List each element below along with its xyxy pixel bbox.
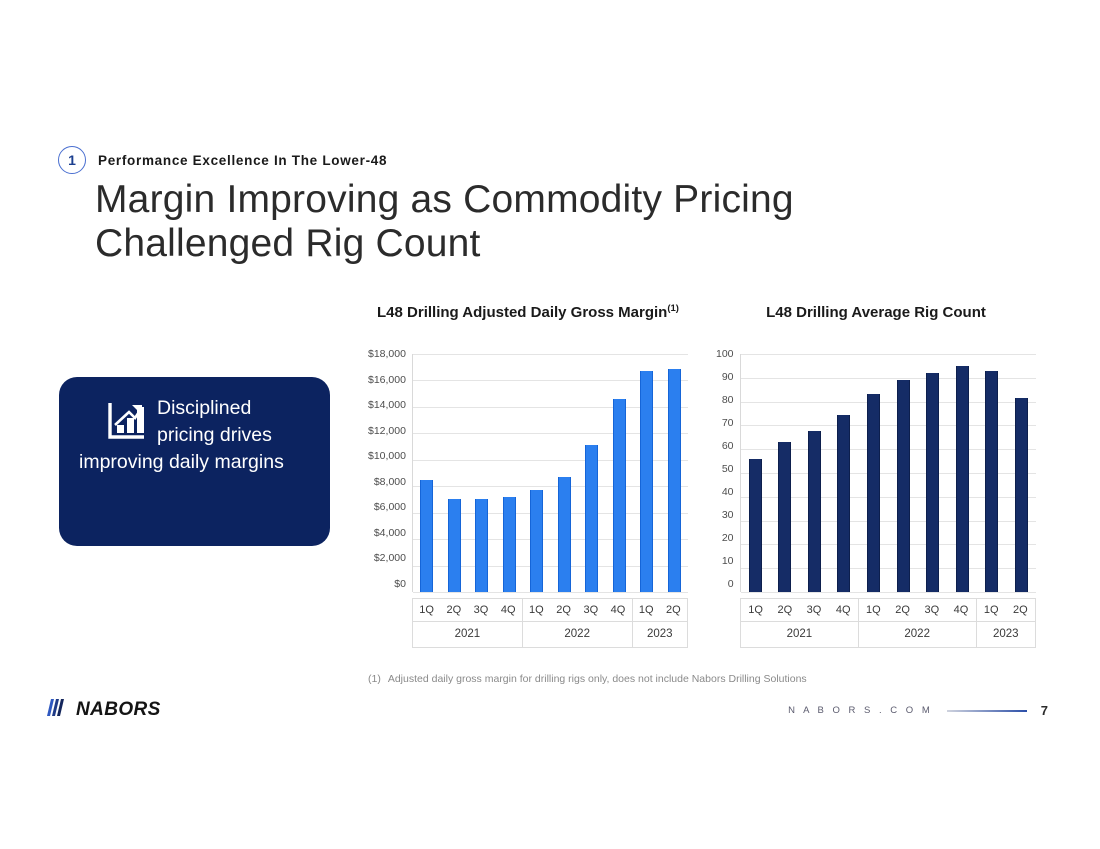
website-label: N A B O R S . C O M: [788, 705, 933, 716]
bar-slot: [918, 354, 948, 592]
bar[interactable]: [475, 499, 488, 592]
bar[interactable]: [778, 442, 791, 592]
chart-l48-average-rig-count: L48 Drilling Average Rig Count1009080706…: [716, 303, 1036, 648]
x-axis-quarter-label: 4Q: [829, 598, 858, 621]
bar[interactable]: [585, 445, 598, 592]
bar[interactable]: [867, 394, 880, 592]
chart-title-superscript: (1): [667, 303, 679, 314]
y-axis-tick: 0: [716, 577, 734, 591]
bar[interactable]: [503, 497, 516, 592]
y-axis-tick: $18,000: [368, 347, 406, 361]
y-axis-labels: 1009080706050403020100: [716, 347, 740, 591]
footnote: (1)Adjusted daily gross margin for drill…: [368, 673, 807, 685]
bar-slot: [800, 354, 830, 592]
bar-slot: [495, 354, 523, 592]
eyebrow-label: Performance Excellence In The Lower-48: [98, 153, 387, 168]
page-number: 7: [1041, 703, 1048, 718]
bar-series: [413, 354, 688, 592]
plot-area: [740, 354, 1036, 592]
x-axis-year-label: 2021: [741, 621, 858, 648]
x-axis-year-group: 1Q2Q2023: [976, 598, 1036, 648]
x-axis-quarter-label: 3Q: [917, 598, 946, 621]
footnote-marker: (1): [368, 673, 381, 685]
y-axis-tick: 90: [716, 370, 734, 384]
x-axis-year-group: 1Q2Q3Q4Q2021: [740, 598, 858, 648]
x-axis: 1Q2Q3Q4Q20211Q2Q3Q4Q20221Q2Q2023: [412, 598, 688, 648]
x-axis-quarter-label: 1Q: [633, 598, 660, 621]
bar-slot: [829, 354, 859, 592]
x-axis-quarter-label: 2Q: [888, 598, 917, 621]
x-axis-quarter-label: 1Q: [741, 598, 770, 621]
nabors-logo: NABORS: [44, 698, 161, 722]
x-axis-quarter-label: 2Q: [770, 598, 799, 621]
chart-title: L48 Drilling Average Rig Count: [716, 303, 1036, 343]
y-axis-tick: $12,000: [368, 424, 406, 438]
x-axis-year-label: 2022: [523, 621, 632, 648]
bar[interactable]: [448, 499, 461, 592]
y-axis-tick: $2,000: [368, 551, 406, 565]
x-axis-quarter-label: 2Q: [440, 598, 467, 621]
bar-slot: [578, 354, 606, 592]
x-axis-quarter-label: 3Q: [577, 598, 604, 621]
chart-title: L48 Drilling Adjusted Daily Gross Margin…: [368, 303, 688, 343]
y-axis-tick: 80: [716, 393, 734, 407]
page-title: Margin Improving as Commodity Pricing Ch…: [95, 178, 945, 266]
bar[interactable]: [530, 490, 543, 592]
bar-slot: [977, 354, 1007, 592]
bar-slot: [888, 354, 918, 592]
x-axis-quarter-label: 1Q: [413, 598, 440, 621]
bar-slot: [605, 354, 633, 592]
bar-slot: [947, 354, 977, 592]
x-axis-year-label: 2023: [977, 621, 1035, 648]
bar-chart-growth-icon: [105, 399, 147, 441]
x-axis-quarter-label: 4Q: [495, 598, 522, 621]
bar-series: [741, 354, 1036, 592]
y-axis-tick: $8,000: [368, 475, 406, 489]
plot-area: [412, 354, 688, 592]
bar[interactable]: [897, 380, 910, 592]
x-axis-quarter-label: 4Q: [946, 598, 975, 621]
nabors-wordmark: NABORS: [76, 699, 161, 721]
x-axis-year-label: 2022: [859, 621, 976, 648]
bar-slot: [859, 354, 889, 592]
bar[interactable]: [420, 480, 433, 592]
x-axis-quarter-label: 2Q: [550, 598, 577, 621]
x-axis-quarter-label: 2Q: [660, 598, 687, 621]
bar-slot: [550, 354, 578, 592]
y-axis-tick: 50: [716, 462, 734, 476]
y-axis-tick: $16,000: [368, 373, 406, 387]
bar-slot: [440, 354, 468, 592]
bar[interactable]: [956, 366, 969, 592]
section-eyebrow: 1 Performance Excellence In The Lower-48: [58, 146, 387, 174]
y-axis-labels: $18,000$16,000$14,000$12,000$10,000$8,00…: [368, 347, 412, 591]
bar-slot: [468, 354, 496, 592]
y-axis-tick: 10: [716, 554, 734, 568]
bar[interactable]: [640, 371, 653, 592]
chart-l48-daily-gross-margin: L48 Drilling Adjusted Daily Gross Margin…: [368, 303, 688, 648]
x-axis-quarter-label: 2Q: [1006, 598, 1035, 621]
bar-slot: [741, 354, 771, 592]
bar-slot: [633, 354, 661, 592]
x-axis-year-label: 2021: [413, 621, 522, 648]
bar[interactable]: [808, 431, 821, 592]
y-axis-tick: 60: [716, 439, 734, 453]
y-axis-tick: 40: [716, 485, 734, 499]
bar[interactable]: [985, 371, 998, 592]
x-axis-year-group: 1Q2Q3Q4Q2021: [412, 598, 522, 648]
x-axis-quarter-label: 3Q: [799, 598, 828, 621]
section-number-badge: 1: [58, 146, 86, 174]
bar-slot: [413, 354, 441, 592]
x-axis-quarter-label: 1Q: [859, 598, 888, 621]
footnote-text: Adjusted daily gross margin for drilling…: [388, 673, 807, 685]
x-axis-year-label: 2023: [633, 621, 687, 648]
x-axis-quarter-label: 1Q: [523, 598, 550, 621]
bar[interactable]: [749, 459, 762, 592]
x-axis-quarter-label: 4Q: [604, 598, 631, 621]
nabors-mark-icon: [44, 698, 68, 722]
bar-slot: [660, 354, 688, 592]
y-axis-tick: $0: [368, 577, 406, 591]
y-axis-tick: $14,000: [368, 398, 406, 412]
bar[interactable]: [558, 477, 571, 592]
bar[interactable]: [613, 399, 626, 592]
bar-slot: [523, 354, 551, 592]
x-axis-year-group: 1Q2Q3Q4Q2022: [522, 598, 632, 648]
bar[interactable]: [668, 369, 681, 592]
y-axis-tick: 70: [716, 416, 734, 430]
x-axis-year-group: 1Q2Q2023: [632, 598, 688, 648]
y-axis-tick: 20: [716, 531, 734, 545]
y-axis-tick: $6,000: [368, 500, 406, 514]
y-axis-tick: $4,000: [368, 526, 406, 540]
bar[interactable]: [1015, 398, 1028, 592]
bar[interactable]: [837, 415, 850, 592]
bar-slot: [770, 354, 800, 592]
y-axis-tick: $10,000: [368, 449, 406, 463]
footer-right: N A B O R S . C O M 7: [788, 703, 1048, 718]
footer-divider: [947, 710, 1027, 712]
y-axis-tick: 30: [716, 508, 734, 522]
x-axis-quarter-label: 3Q: [467, 598, 494, 621]
callout-card: Disciplined pricing drives improving dai…: [59, 377, 330, 546]
x-axis-year-group: 1Q2Q3Q4Q2022: [858, 598, 976, 648]
x-axis: 1Q2Q3Q4Q20211Q2Q3Q4Q20221Q2Q2023: [740, 598, 1036, 648]
slide: 1 Performance Excellence In The Lower-48…: [0, 0, 1100, 849]
x-axis-quarter-label: 1Q: [977, 598, 1006, 621]
y-axis-tick: 100: [716, 347, 734, 361]
bar[interactable]: [926, 373, 939, 592]
bar-slot: [1006, 354, 1036, 592]
